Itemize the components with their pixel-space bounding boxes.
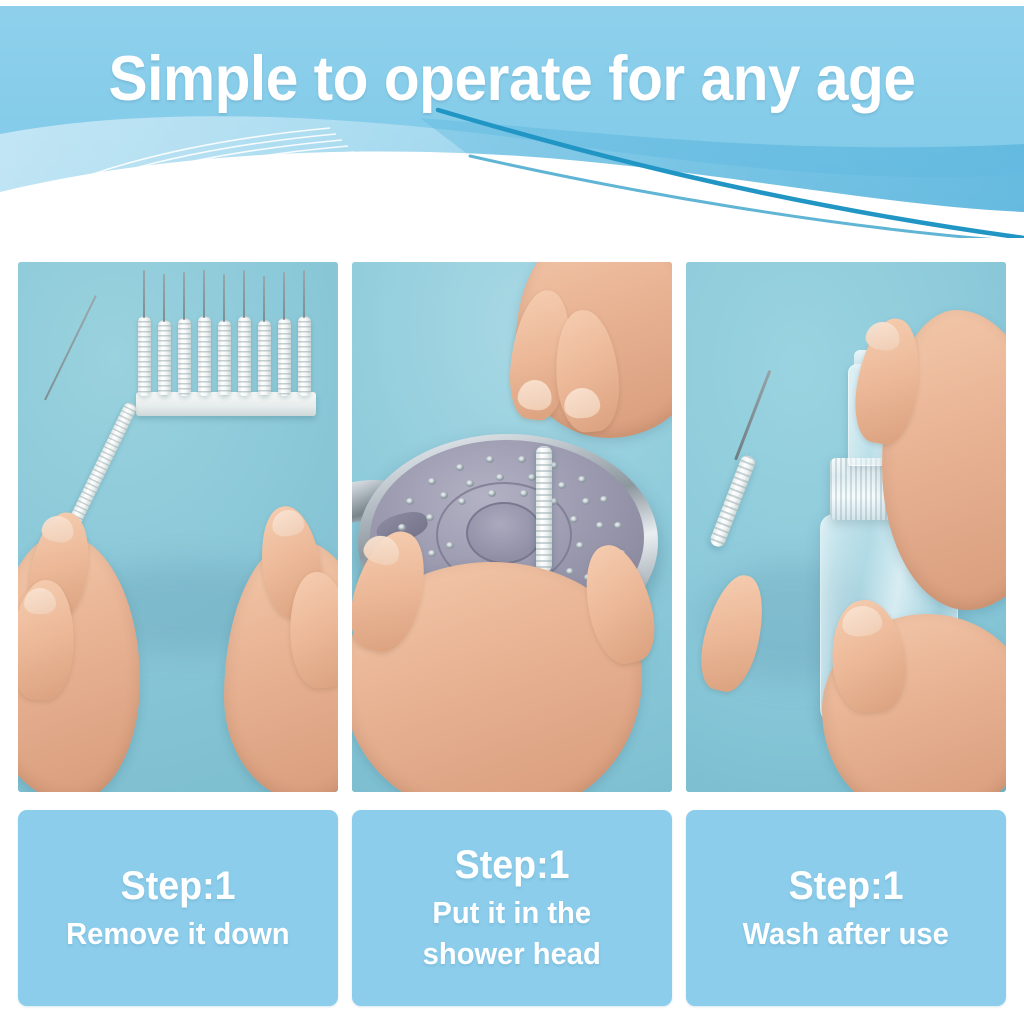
photo-panel-insert-brush[interactable] bbox=[352, 262, 672, 792]
step-label: Step:1 bbox=[789, 863, 904, 909]
caption-row: Step:1 Remove it down Step:1 Put it in t… bbox=[0, 810, 1024, 1006]
step-description: Wash after use bbox=[743, 913, 949, 954]
step-description-line: Remove it down bbox=[66, 913, 289, 954]
brush-item bbox=[158, 320, 171, 396]
brush-wire bbox=[183, 272, 185, 320]
brush-wire bbox=[303, 270, 305, 318]
brush-wire bbox=[163, 274, 165, 322]
step-label: Step:1 bbox=[121, 863, 236, 909]
brush-item bbox=[298, 316, 311, 396]
header-banner: Simple to operate for any age bbox=[0, 6, 1024, 238]
brush-wire bbox=[243, 270, 245, 318]
photo-wash-brush bbox=[686, 262, 1006, 792]
step-description-line: Wash after use bbox=[743, 913, 949, 954]
brush-wire bbox=[143, 270, 145, 318]
caption-box-step-2[interactable]: Step:1 Put it in the shower head bbox=[352, 810, 672, 1006]
header-wave-decoration bbox=[0, 6, 1024, 238]
step-label: Step:1 bbox=[455, 842, 570, 888]
brush-item bbox=[178, 318, 191, 396]
brush-item bbox=[238, 316, 251, 396]
photo-panel-row bbox=[0, 262, 1024, 792]
photo-remove-brush bbox=[18, 262, 338, 792]
caption-box-step-3[interactable]: Step:1 Wash after use bbox=[686, 810, 1006, 1006]
brush-item bbox=[218, 320, 231, 396]
step-description: Remove it down bbox=[66, 913, 289, 954]
step-description: Put it in the shower head bbox=[423, 892, 601, 974]
brush-item bbox=[198, 316, 211, 396]
brush-item bbox=[278, 318, 291, 396]
inserted-brush bbox=[536, 446, 552, 572]
fingernail bbox=[24, 588, 56, 614]
brush-wire bbox=[283, 272, 285, 320]
brush-wire bbox=[223, 274, 225, 322]
photo-panel-remove-brush[interactable] bbox=[18, 262, 338, 792]
brush-item bbox=[258, 320, 271, 396]
brush-wire bbox=[263, 276, 265, 322]
caption-box-step-1[interactable]: Step:1 Remove it down bbox=[18, 810, 338, 1006]
photo-panel-wash-brush[interactable] bbox=[686, 262, 1006, 792]
step-description-line: shower head bbox=[423, 933, 601, 974]
step-description-line: Put it in the bbox=[423, 892, 601, 933]
brush-item bbox=[138, 316, 151, 396]
photo-insert-brush bbox=[352, 262, 672, 792]
page-title: Simple to operate for any age bbox=[36, 42, 988, 116]
brush-wire bbox=[203, 270, 205, 318]
face-ring-inner bbox=[466, 502, 542, 564]
infographic-page: Simple to operate for any age bbox=[0, 0, 1024, 1024]
